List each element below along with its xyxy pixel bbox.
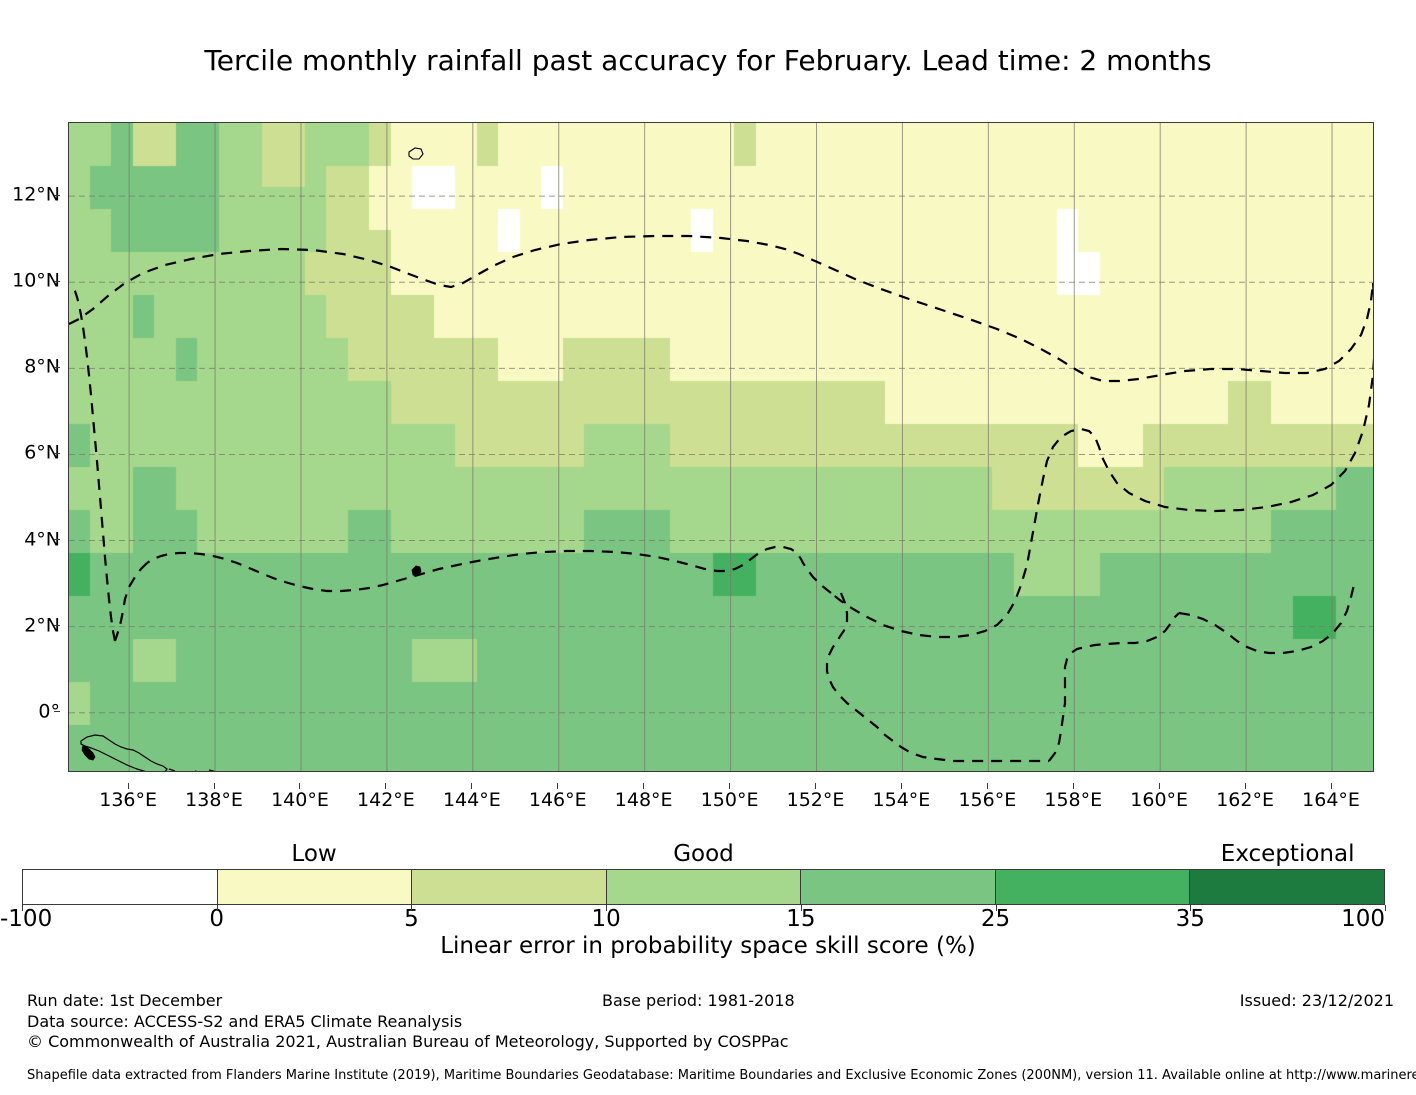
x-tick-label: 150°E <box>701 791 759 810</box>
colorbar-axis-label: Linear error in probability space skill … <box>0 933 1416 960</box>
x-tick-label: 144°E <box>443 791 501 810</box>
x-tick-label: 156°E <box>958 791 1016 810</box>
colorbar-quality-label: Good <box>673 843 734 866</box>
colorbar-segments <box>22 869 1385 905</box>
y-tick-mark <box>54 625 60 626</box>
footer-issued-date: Issued: 23/12/2021 <box>1240 991 1394 1011</box>
colorbar-tick-label: 35 <box>1176 908 1205 931</box>
y-axis: 12°N10°N8°N6°N4°N2°N0° <box>0 122 60 772</box>
footer-base-period: Base period: 1981-2018 <box>602 991 795 1011</box>
y-tick-mark <box>54 367 60 368</box>
colorbar-quality-label: Exceptional <box>1221 843 1355 866</box>
colorbar-tick-mark <box>996 905 997 911</box>
y-tick-label: 12°N <box>2 186 60 205</box>
colorbar-tick-label: 10 <box>592 908 621 931</box>
y-tick-mark <box>54 281 60 282</box>
colorbar-tick-mark <box>22 905 23 911</box>
x-tick-mark <box>1245 783 1246 789</box>
colorbar-tick-mark <box>1385 905 1386 911</box>
x-tick-label: 138°E <box>185 791 243 810</box>
colorbar-tick-label: 25 <box>981 908 1010 931</box>
x-tick-label: 142°E <box>357 791 415 810</box>
y-tick-mark <box>54 453 60 454</box>
x-tick-label: 140°E <box>271 791 329 810</box>
x-tick-mark <box>1073 783 1074 789</box>
colorbar-segment <box>800 870 995 904</box>
colorbar-segment <box>411 870 606 904</box>
colorbar-segment <box>995 870 1190 904</box>
x-tick-label: 160°E <box>1130 791 1188 810</box>
x-tick-label: 162°E <box>1216 791 1274 810</box>
x-tick-mark <box>128 783 129 789</box>
footer-run-date: Run date: 1st December <box>27 991 222 1011</box>
y-tick-label: 6°N <box>2 444 60 463</box>
y-tick-label: 4°N <box>2 530 60 549</box>
x-tick-mark <box>385 783 386 789</box>
colorbar-segment <box>23 870 217 904</box>
colorbar-tick-mark <box>801 905 802 911</box>
colorbar-tick-label: 5 <box>404 908 419 931</box>
x-tick-label: 146°E <box>529 791 587 810</box>
y-tick-mark <box>54 539 60 540</box>
x-tick-label: 154°E <box>873 791 931 810</box>
colorbar-tick-label: 15 <box>786 908 815 931</box>
x-tick-mark <box>471 783 472 789</box>
colorbar-tick-mark <box>217 905 218 911</box>
footer-shapefile-attribution: Shapefile data extracted from Flanders M… <box>27 1068 1416 1084</box>
colorbar-tick-mark <box>606 905 607 911</box>
map-plot-area <box>68 122 1374 772</box>
colorbar-segment <box>217 870 412 904</box>
colorbar <box>22 869 1385 905</box>
x-tick-label: 164°E <box>1302 791 1360 810</box>
page-title: Tercile monthly rainfall past accuracy f… <box>0 44 1416 78</box>
colorbar-tick-label: 0 <box>209 908 224 931</box>
colorbar-tick-mark <box>411 905 412 911</box>
x-tick-mark <box>729 783 730 789</box>
x-tick-label: 158°E <box>1044 791 1102 810</box>
x-tick-mark <box>557 783 558 789</box>
x-tick-mark <box>299 783 300 789</box>
x-tick-mark <box>815 783 816 789</box>
y-tick-mark <box>54 711 60 712</box>
x-tick-mark <box>1159 783 1160 789</box>
colorbar-quality-label: Low <box>291 843 336 866</box>
colorbar-segment <box>1189 870 1384 904</box>
x-tick-mark <box>901 783 902 789</box>
x-tick-label: 152°E <box>787 791 845 810</box>
x-tick-mark <box>987 783 988 789</box>
colorbar-tick-label: -100 <box>0 908 52 931</box>
y-tick-mark <box>54 195 60 196</box>
y-tick-label: 2°N <box>2 616 60 635</box>
x-tick-mark <box>214 783 215 789</box>
x-tick-mark <box>643 783 644 789</box>
x-tick-mark <box>1331 783 1332 789</box>
colorbar-tick-label: 100 <box>1341 908 1385 931</box>
y-tick-label: 0° <box>2 702 60 721</box>
x-axis: 136°E138°E140°E142°E144°E146°E148°E150°E… <box>68 783 1374 809</box>
footer-data-source: Data source: ACCESS-S2 and ERA5 Climate … <box>27 1012 462 1032</box>
x-tick-label: 136°E <box>99 791 157 810</box>
skill-score-heatmap <box>69 123 1374 772</box>
y-tick-label: 10°N <box>2 272 60 291</box>
colorbar-tick-mark <box>1190 905 1191 911</box>
colorbar-segment <box>606 870 801 904</box>
x-tick-label: 148°E <box>615 791 673 810</box>
y-tick-label: 8°N <box>2 358 60 377</box>
footer-copyright: © Commonwealth of Australia 2021, Austra… <box>27 1032 789 1052</box>
